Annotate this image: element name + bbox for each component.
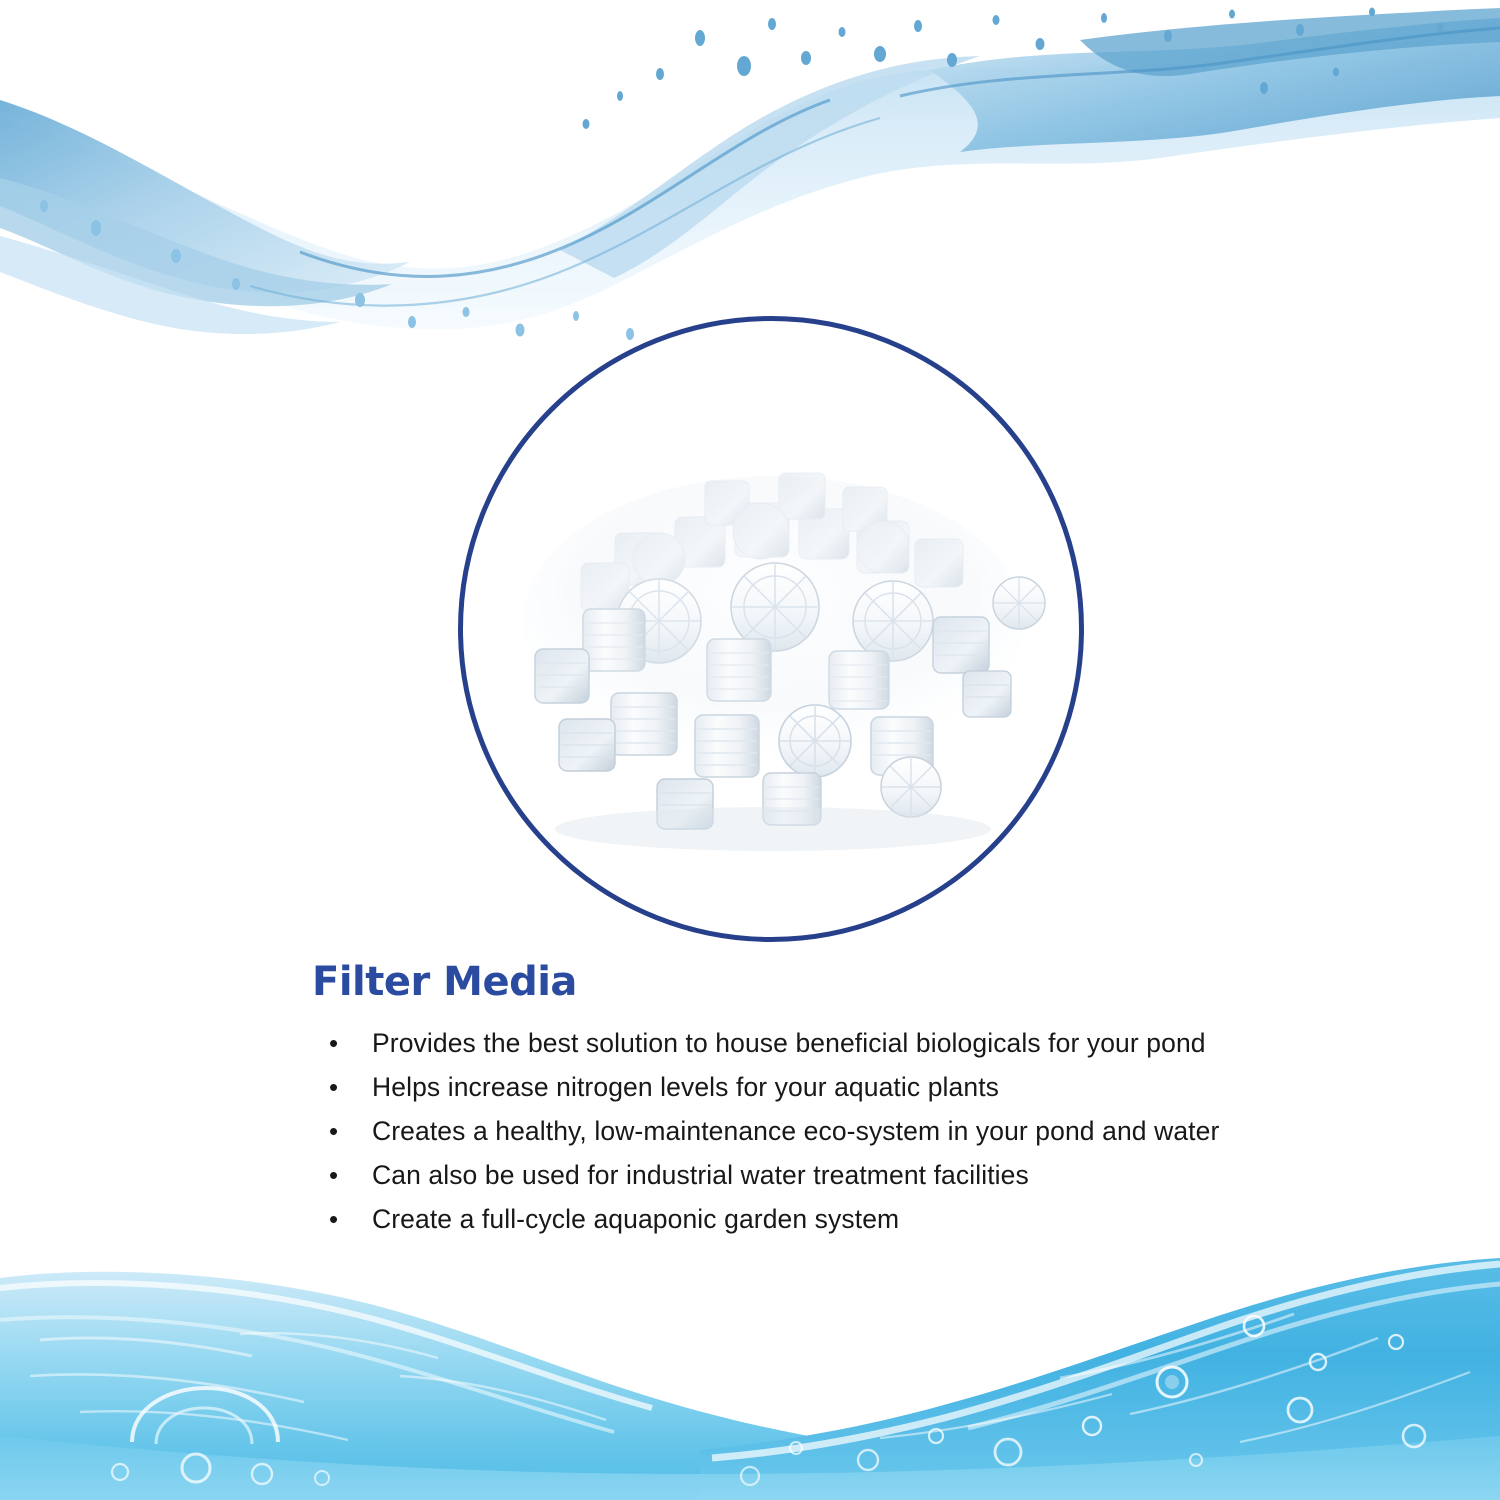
bullet-icon: • bbox=[312, 1114, 372, 1148]
bullet-icon: • bbox=[312, 1202, 372, 1236]
splash-ribbon-a bbox=[300, 100, 830, 276]
media-cylinder bbox=[963, 671, 1011, 717]
splash-ribbon-b bbox=[250, 118, 880, 306]
water-surface-graphic bbox=[0, 1230, 1500, 1500]
list-item-label: Creates a healthy, low-maintenance eco-s… bbox=[372, 1114, 1412, 1149]
media-ring bbox=[779, 705, 851, 777]
water-right-wave bbox=[700, 1258, 1500, 1500]
water-splash-wave-graphic bbox=[0, 0, 1500, 345]
list-item: • Creates a healthy, low-maintenance eco… bbox=[312, 1114, 1412, 1149]
content-block: Filter Media • Provides the best solutio… bbox=[312, 962, 1412, 1246]
splash-center-crest bbox=[560, 56, 980, 278]
page-title: Filter Media bbox=[312, 962, 1412, 1002]
splash-left-sheet bbox=[0, 178, 392, 306]
water-surface-svg bbox=[0, 1230, 1500, 1500]
media-cylinder bbox=[933, 617, 989, 673]
splash-ribbon-c bbox=[900, 28, 1500, 96]
water-base-body bbox=[0, 1436, 1500, 1500]
splash-main-band bbox=[0, 20, 1500, 330]
product-infographic-page: Filter Media • Provides the best solutio… bbox=[0, 0, 1500, 1500]
media-cylinder bbox=[829, 651, 889, 709]
list-item-label: Provides the best solution to house bene… bbox=[372, 1026, 1412, 1061]
media-cylinder bbox=[583, 609, 645, 671]
feature-list: • Provides the best solution to house be… bbox=[312, 1026, 1412, 1237]
media-ring bbox=[731, 563, 819, 651]
splash-droplets bbox=[583, 8, 1444, 130]
splash-right-mass bbox=[930, 18, 1500, 152]
list-item-label: Can also be used for industrial water tr… bbox=[372, 1158, 1412, 1193]
media-ring bbox=[993, 577, 1045, 629]
list-item: • Helps increase nitrogen levels for you… bbox=[312, 1070, 1412, 1105]
media-cylinder bbox=[535, 649, 589, 703]
list-item: • Can also be used for industrial water … bbox=[312, 1158, 1412, 1193]
splash-right-crest bbox=[1080, 8, 1500, 76]
water-left-crest bbox=[0, 1272, 960, 1500]
list-item: • Provides the best solution to house be… bbox=[312, 1026, 1412, 1061]
water-right-foam-2 bbox=[968, 1284, 1500, 1428]
splash-left-mass bbox=[0, 100, 410, 293]
water-bubbles bbox=[741, 1316, 1425, 1485]
water-left-foam bbox=[0, 1283, 652, 1408]
water-dome-bubbles bbox=[112, 1388, 329, 1485]
product-image-circle bbox=[458, 316, 1084, 942]
media-pile-shadow bbox=[555, 807, 991, 851]
water-ripples bbox=[30, 1314, 1470, 1442]
list-item-label: Helps increase nitrogen levels for your … bbox=[372, 1070, 1412, 1105]
bullet-icon: • bbox=[312, 1026, 372, 1060]
list-item-label: Create a full-cycle aquaponic garden sys… bbox=[372, 1202, 1412, 1237]
media-ring bbox=[853, 581, 933, 661]
list-item: • Create a full-cycle aquaponic garden s… bbox=[312, 1202, 1412, 1237]
splash-droplets-secondary bbox=[40, 200, 634, 340]
water-splash-svg bbox=[0, 0, 1500, 345]
media-cylinder bbox=[707, 639, 771, 701]
media-ring bbox=[881, 757, 941, 817]
media-cylinder bbox=[611, 693, 677, 755]
media-cylinder bbox=[559, 719, 615, 771]
filter-media-bio-balls-image bbox=[463, 321, 1079, 937]
bullet-icon: • bbox=[312, 1158, 372, 1192]
water-right-foam bbox=[712, 1264, 1500, 1458]
media-cylinder bbox=[695, 715, 759, 777]
splash-left-trail bbox=[0, 236, 340, 334]
bullet-icon: • bbox=[312, 1070, 372, 1104]
water-left-foam-2 bbox=[0, 1317, 614, 1432]
